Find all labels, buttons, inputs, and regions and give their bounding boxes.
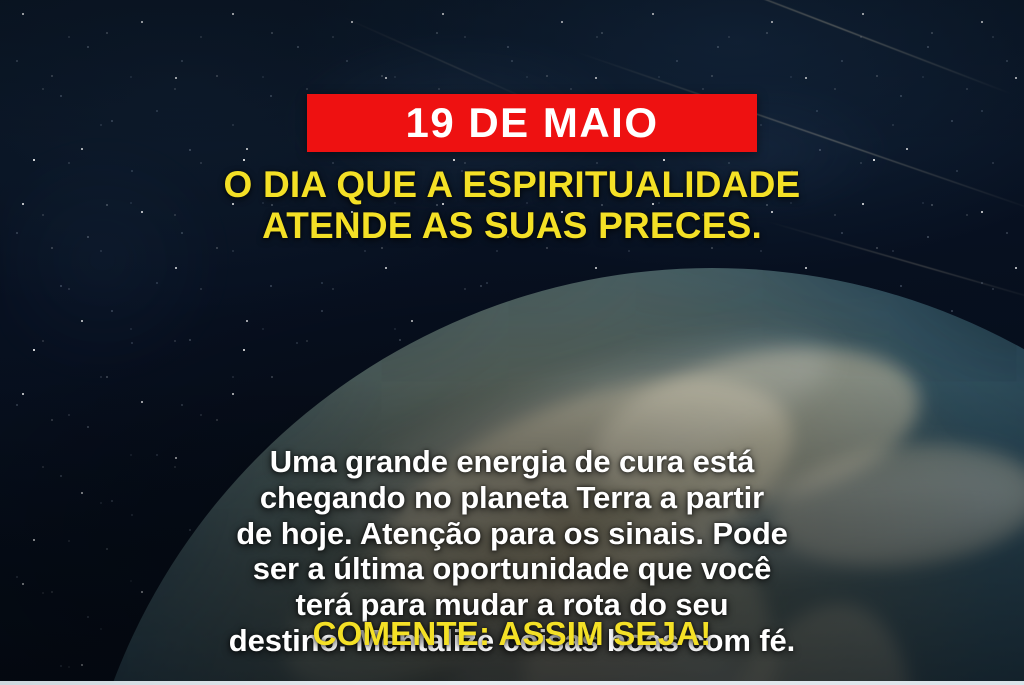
body-line-3: de hoje. Atenção para os sinais. Pode [0, 516, 1024, 552]
headline: O DIA QUE A ESPIRITUALIDADE ATENDE AS SU… [0, 164, 1024, 247]
date-badge: 19 DE MAIO [307, 94, 757, 152]
headline-line-2: ATENDE AS SUAS PRECES. [0, 205, 1024, 246]
poster-content: 19 DE MAIO O DIA QUE A ESPIRITUALIDADE A… [0, 0, 1024, 685]
body-line-1: Uma grande energia de cura está [0, 444, 1024, 480]
headline-line-1: O DIA QUE A ESPIRITUALIDADE [0, 164, 1024, 205]
poster-canvas: 19 DE MAIO O DIA QUE A ESPIRITUALIDADE A… [0, 0, 1024, 685]
date-badge-label: 19 DE MAIO [405, 102, 658, 144]
bottom-edge-strip [0, 681, 1024, 685]
body-line-4: ser a última oportunidade que você [0, 551, 1024, 587]
call-to-action-text: COMENTE: ASSIM SEJA! [0, 615, 1024, 653]
body-line-2: chegando no planeta Terra a partir [0, 480, 1024, 516]
